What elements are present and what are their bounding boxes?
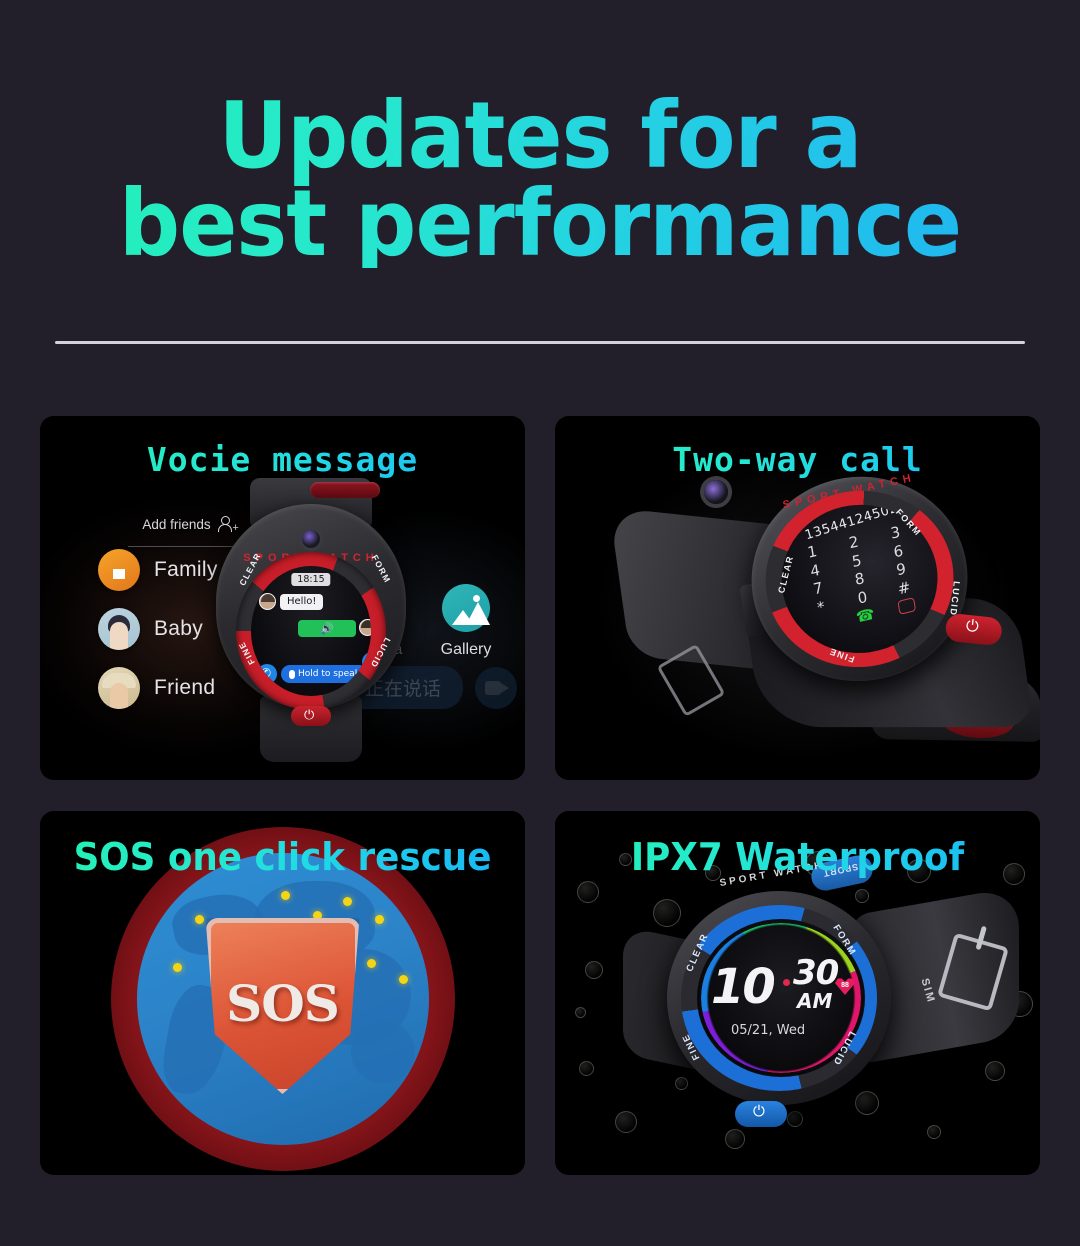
card-title: IPX7 Waterproof: [570, 835, 1026, 879]
sos-label: SOS: [226, 974, 339, 1033]
card-title: Vocie message: [40, 440, 525, 479]
location-dot: [399, 975, 408, 984]
card-title: Two-way call: [555, 440, 1040, 479]
gallery-icon: [442, 584, 490, 632]
feature-card-sos-rescue[interactable]: SOS one click rescue: [40, 811, 525, 1175]
home-icon: [98, 549, 140, 591]
power-icon[interactable]: [291, 706, 331, 726]
watch-camera-icon: [302, 530, 320, 548]
power-icon[interactable]: [735, 1101, 787, 1127]
watch-camera-icon: [703, 478, 730, 505]
feature-card-ipx7-waterproof[interactable]: IPX7 Waterproof SPORT SPORT WATCH SIM 10: [555, 811, 1040, 1175]
watch-ampm: AM: [797, 989, 832, 1013]
hold-to-speak-row: Hold to speak: [257, 664, 368, 684]
watch-minute: 30: [793, 953, 838, 993]
watch-hour: 10: [711, 959, 774, 1015]
location-dot: [173, 963, 182, 972]
watch-date: 05/21, Wed: [731, 1023, 805, 1038]
feature-card-grid: Vocie message Add friends + Family Baby: [40, 416, 1040, 1184]
location-dot: [375, 915, 384, 924]
watch-time: 18:15: [291, 573, 330, 586]
watch-screen[interactable]: 18:15 Hello! 🔊: [251, 566, 371, 696]
app-gallery[interactable]: Gallery: [427, 584, 505, 659]
feature-card-voice-message[interactable]: Vocie message Add friends + Family Baby: [40, 416, 525, 780]
promo-page: Updates for a best performance Vocie mes…: [0, 0, 1080, 1246]
watch-body: SPORT WATCH 18:15 Hello! 🔊: [216, 504, 406, 709]
feature-card-two-way-call[interactable]: Two-way call 13544124502 1 2 3: [555, 416, 1040, 780]
woman-avatar: [98, 667, 140, 709]
location-dot: [367, 959, 376, 968]
page-title: Updates for a best performance: [38, 92, 1042, 268]
video-call-icon[interactable]: [475, 667, 517, 709]
smartwatch-angled: 13544124502 1 2 3 4 5 6 7 8 9 * 0: [606, 430, 1040, 780]
sender-avatar: [359, 619, 371, 636]
hold-to-speak-button[interactable]: Hold to speak: [281, 665, 368, 683]
contact-name: Friend: [154, 676, 215, 700]
message-row: Hello!: [259, 593, 323, 610]
sound-wave-icon: 🔊: [320, 622, 334, 635]
microphone-icon: [289, 670, 295, 679]
contact-name: Family: [154, 558, 218, 582]
app-label: Gallery: [427, 641, 505, 659]
smartwatch-front: SPORT WATCH 18:15 Hello! 🔊: [216, 478, 406, 768]
watch-top-button[interactable]: [310, 482, 380, 498]
heart-rate-value: 88: [841, 982, 849, 989]
sender-avatar: [259, 593, 276, 610]
continent-shape: [351, 1021, 415, 1083]
location-dot: [343, 897, 352, 906]
voice-message-bubble[interactable]: 🔊: [298, 620, 356, 637]
contact-name: Baby: [154, 617, 203, 641]
header-divider: [55, 341, 1025, 344]
card-title: SOS one click rescue: [55, 835, 511, 879]
smartwatch-waterproof: SPORT SPORT WATCH SIM 10 30 AM 88: [615, 873, 1015, 1163]
watch-body: 10 30 AM 88 05/21, Wed: [667, 891, 891, 1105]
boy-avatar: [98, 608, 140, 650]
message-bubble: Hello!: [280, 594, 323, 610]
location-dot: [281, 891, 290, 900]
add-friends-label: Add friends: [142, 517, 210, 532]
location-dot: [195, 915, 204, 924]
page-title-line-2: best performance: [38, 180, 1042, 268]
phone-icon[interactable]: [257, 664, 277, 684]
time-separator-dot: [783, 979, 790, 986]
hold-to-speak-label: Hold to speak: [298, 669, 360, 679]
